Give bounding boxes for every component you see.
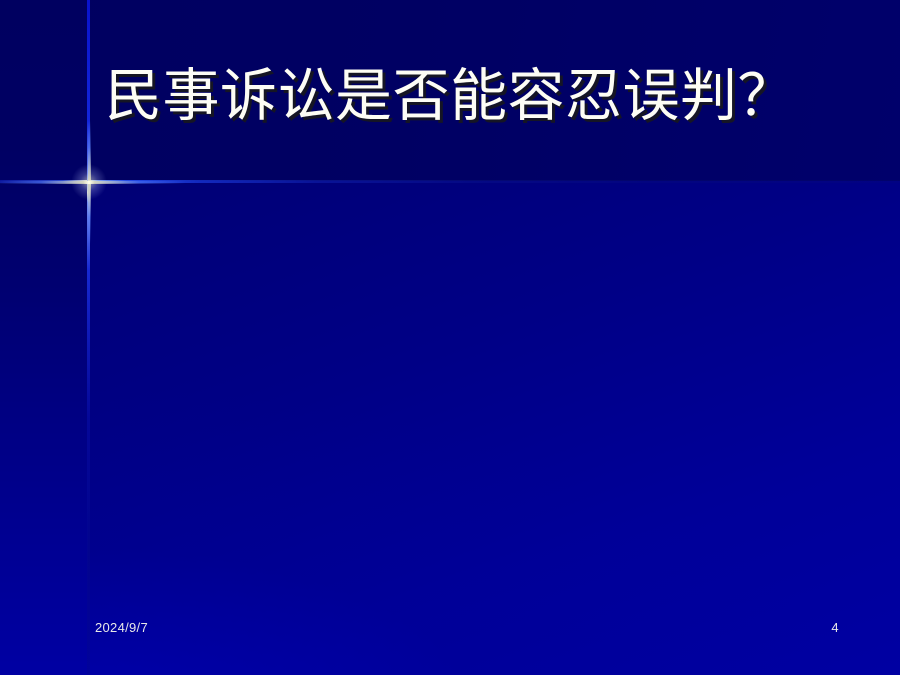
star-burst-horizontal-ray: [0, 181, 185, 184]
slide-background-bottom-band: [0, 181, 900, 675]
footer-date: 2024/9/7: [95, 620, 148, 635]
presentation-slide: 民事诉讼是否能容忍误判？ 2024/9/7 4: [0, 0, 900, 675]
footer-page-number: 4: [820, 620, 850, 635]
slide-title: 民事诉讼是否能容忍误判？: [0, 62, 900, 130]
